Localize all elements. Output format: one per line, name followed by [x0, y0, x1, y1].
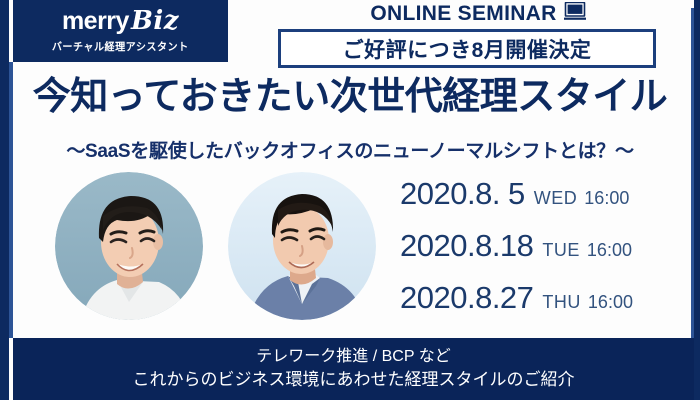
seminar-day-of-week: THU [542, 292, 581, 313]
brand-logo-primary: merry [62, 7, 129, 35]
seminar-date: 2020.8.27 [400, 280, 533, 316]
seminar-date: 2020.8.18 [400, 228, 533, 264]
online-seminar-label: ONLINE SEMINAR [370, 2, 556, 26]
footer-line-1: テレワーク推進 / BCP など [256, 346, 450, 368]
seminar-date-list: 2020.8. 5 WED 16:00 2020.8.18 TUE 16:00 … [400, 176, 680, 332]
seminar-date-row[interactable]: 2020.8.27 THU 16:00 [400, 280, 680, 332]
speaker-photo-2 [228, 172, 376, 320]
brand-logo-secondary: Biz [131, 6, 179, 36]
seminar-day-of-week: WED [534, 188, 578, 209]
seminar-date: 2020.8. 5 [400, 176, 525, 212]
laptop-icon [564, 2, 586, 26]
seminar-time: 16:00 [588, 292, 633, 313]
seminar-banner: merryBiz バーチャル経理アシスタント ONLINE SEMINAR ご好… [0, 0, 700, 400]
brand-logo[interactable]: merryBiz バーチャル経理アシスタント [13, 0, 228, 62]
speaker-photo-1 [55, 172, 203, 320]
left-navy-rail [0, 0, 9, 400]
online-seminar-heading: ONLINE SEMINAR [278, 1, 678, 27]
footer-bar: テレワーク推進 / BCP など これからのビジネス環境にあわせた経理スタイルの… [13, 338, 694, 400]
brand-logo-wordmark: merryBiz [62, 8, 179, 34]
right-accent-rail [691, 8, 694, 338]
seminar-time: 16:00 [584, 188, 629, 209]
right-navy-rail [694, 0, 700, 400]
seminar-date-row[interactable]: 2020.8.18 TUE 16:00 [400, 228, 680, 280]
seminar-time: 16:00 [587, 240, 632, 261]
page-title: 今知っておきたい次世代経理スタイル [0, 76, 700, 120]
footer-line-2: これからのビジネス環境にあわせた経理スタイルのご紹介 [133, 369, 575, 392]
brand-logo-tagline: バーチャル経理アシスタント [52, 39, 189, 54]
announcement-badge-text: ご好評につき8月開催決定 [343, 34, 592, 64]
seminar-date-row[interactable]: 2020.8. 5 WED 16:00 [400, 176, 680, 228]
seminar-day-of-week: TUE [542, 240, 580, 261]
page-subtitle: 〜SaaSを駆使したバックオフィスのニューノーマルシフトとは？〜 [0, 136, 700, 163]
announcement-badge: ご好評につき8月開催決定 [278, 29, 656, 68]
